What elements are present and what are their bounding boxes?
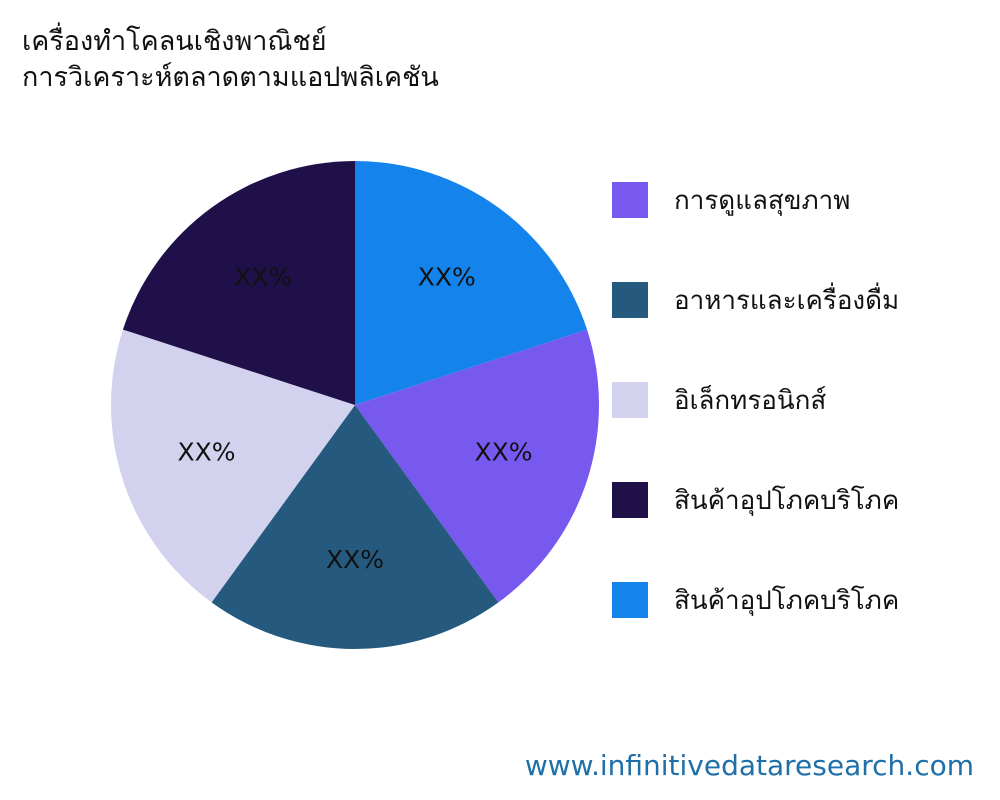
pie-slice-label: XX% [177, 437, 235, 466]
legend-swatch-icon [612, 182, 648, 218]
legend-swatch-icon [612, 582, 648, 618]
legend-swatch-icon [612, 282, 648, 318]
pie-slice-label: XX% [418, 263, 476, 292]
pie-slice-label: XX% [234, 263, 292, 292]
website-url[interactable]: www.infinitivedataresearch.com [525, 749, 974, 782]
page-title: เครื่องทำโคลนเชิงพาณิชย์ การวิเคราะห์ตลา… [22, 24, 722, 97]
legend-item-label: อิเล็กทรอนิกส์ [674, 380, 826, 421]
legend-item-label: สินค้าอุปโภคบริโภค [674, 580, 899, 621]
legend: การดูแลสุขภาพ อาหารและเครื่องดื่ม อิเล็ก… [612, 150, 992, 650]
legend-item-label: อาหารและเครื่องดื่ม [674, 280, 899, 321]
pie-slice-label: XX% [326, 545, 384, 574]
legend-item[interactable]: อาหารและเครื่องดื่ม [612, 250, 992, 350]
legend-swatch-icon [612, 482, 648, 518]
pie-svg: XX%XX%XX%XX%XX% [110, 160, 600, 650]
pie-chart: XX%XX%XX%XX%XX% [110, 160, 600, 650]
pie-slices [111, 161, 599, 649]
title-line-1: เครื่องทำโคลนเชิงพาณิชย์ [22, 24, 722, 60]
legend-item[interactable]: การดูแลสุขภาพ [612, 150, 992, 250]
legend-item[interactable]: สินค้าอุปโภคบริโภค [612, 550, 992, 650]
legend-item[interactable]: สินค้าอุปโภคบริโภค [612, 450, 992, 550]
title-line-2: การวิเคราะห์ตลาดตามแอปพลิเคชัน [22, 60, 722, 96]
legend-item-label: สินค้าอุปโภคบริโภค [674, 480, 899, 521]
legend-item[interactable]: อิเล็กทรอนิกส์ [612, 350, 992, 450]
chart-area: XX%XX%XX%XX%XX% การดูแลสุขภาพ อาหารและเค… [0, 120, 1000, 720]
legend-item-label: การดูแลสุขภาพ [674, 180, 850, 221]
legend-swatch-icon [612, 382, 648, 418]
pie-slice-label: XX% [474, 437, 532, 466]
